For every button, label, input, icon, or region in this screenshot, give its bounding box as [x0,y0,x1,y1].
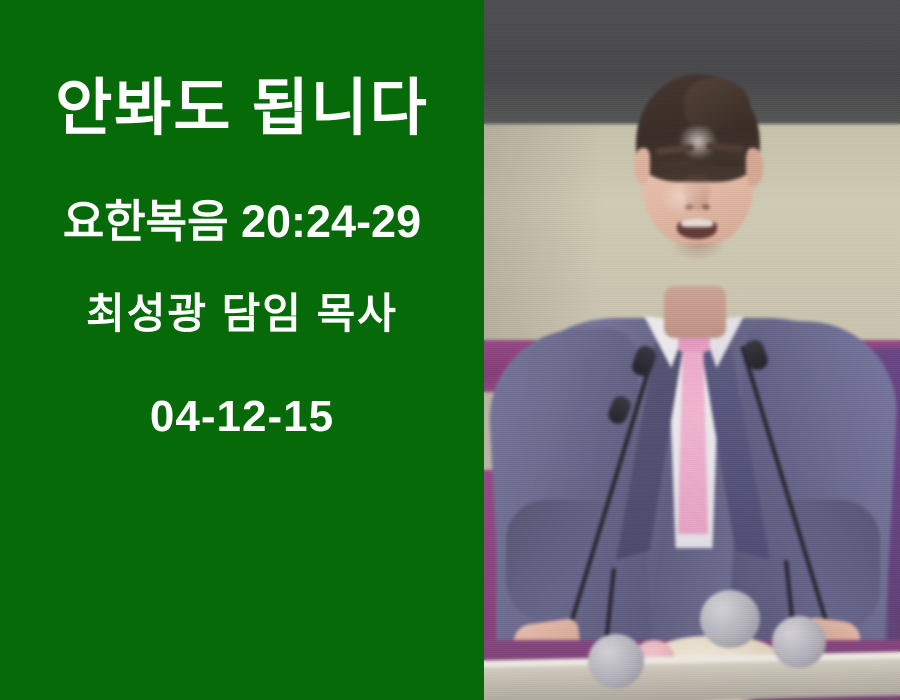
sermon-info-panel: 안봐도 됩니다 요한복음 20:24-29 최성광 담임 목사 04-12-15 [0,0,484,700]
sermon-title: 안봐도 됩니다 [0,74,484,144]
scripture-reference: 요한복음 20:24-29 [0,196,484,248]
sermon-date: 04-12-15 [0,391,484,443]
microphone-windscreen-left [588,634,644,688]
preacher-chin-shadow [670,244,726,262]
preacher-right-ear [746,148,763,186]
sermon-title-card: 안봐도 됩니다 요한복음 20:24-29 최성광 담임 목사 04-12-15 [0,0,900,700]
preacher-left-ear [634,148,650,184]
preacher-teeth [681,219,713,227]
speaker-name: 최성광 담임 목사 [0,289,484,339]
preacher-neck [664,286,726,338]
microphone-windscreen-center [700,590,760,648]
backdrop-wall-shadow [484,124,604,346]
microphone-windscreen-right [772,616,826,668]
preacher-photo [484,0,900,700]
preacher-cheek-highlight [660,178,704,216]
